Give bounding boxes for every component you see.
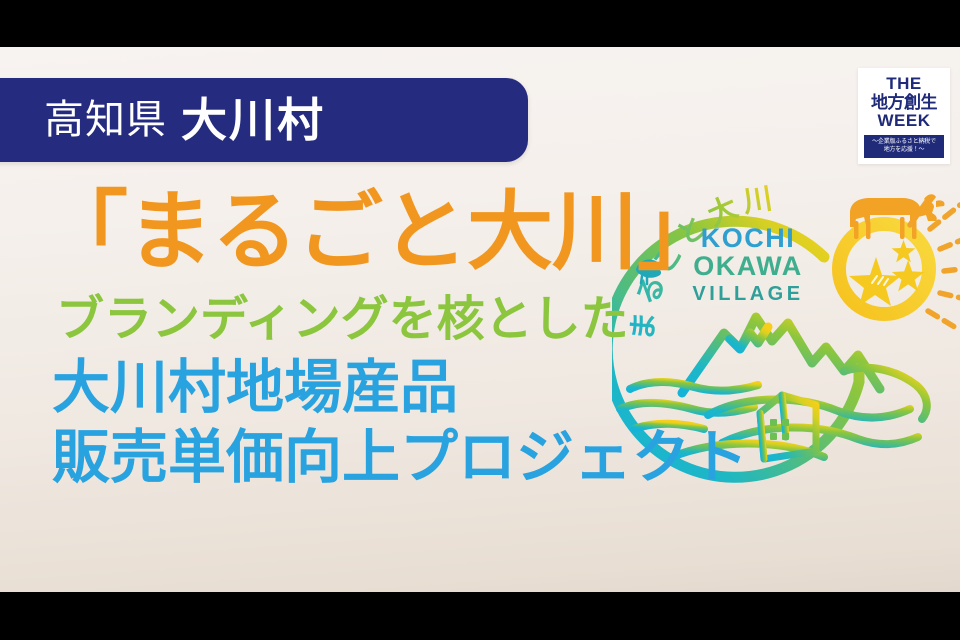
slide-canvas: 高知県 大川村 「まるごと大川」 ブランディングを核とした 大川村地場産品 販売… — [0, 0, 960, 640]
letterbox-bar-bottom — [0, 592, 960, 640]
headline-main-title: 「まるごと大川」 — [42, 189, 748, 277]
event-logo-tagline: 〜企業版ふるさと納税で 地方を応援！〜 — [864, 135, 944, 158]
village-label: 大川村 — [181, 97, 325, 143]
headline-subtitle-green: ブランディングを核とした — [56, 293, 748, 347]
event-logo-tagline-line1: 〜企業版ふるさと納税で — [866, 138, 942, 147]
event-logo-tagline-line2: 地方を応援！〜 — [866, 146, 942, 155]
headline-subtitle-blue-line1: 大川村地場産品 — [52, 354, 748, 421]
event-logo-the-chiho-sosei-week: THE 地方創生 WEEK 〜企業版ふるさと納税で 地方を応援！〜 — [858, 68, 950, 164]
event-logo-line-week: WEEK — [864, 112, 944, 131]
letterbox-bar-top — [0, 0, 960, 47]
slide-stage: 高知県 大川村 「まるごと大川」 ブランディングを核とした 大川村地場産品 販売… — [0, 47, 960, 592]
headline-block: 「まるごと大川」 ブランディングを核とした 大川村地場産品 販売単価向上プロジェ… — [42, 189, 748, 491]
prefecture-label: 高知県 — [44, 100, 167, 140]
prefecture-village-badge: 高知県 大川村 — [0, 78, 528, 162]
headline-subtitle-blue-line2: 販売単価向上プロジェクト — [52, 424, 748, 491]
event-logo-line-jp: 地方創生 — [864, 93, 944, 112]
event-logo-line-the: THE — [864, 75, 944, 93]
